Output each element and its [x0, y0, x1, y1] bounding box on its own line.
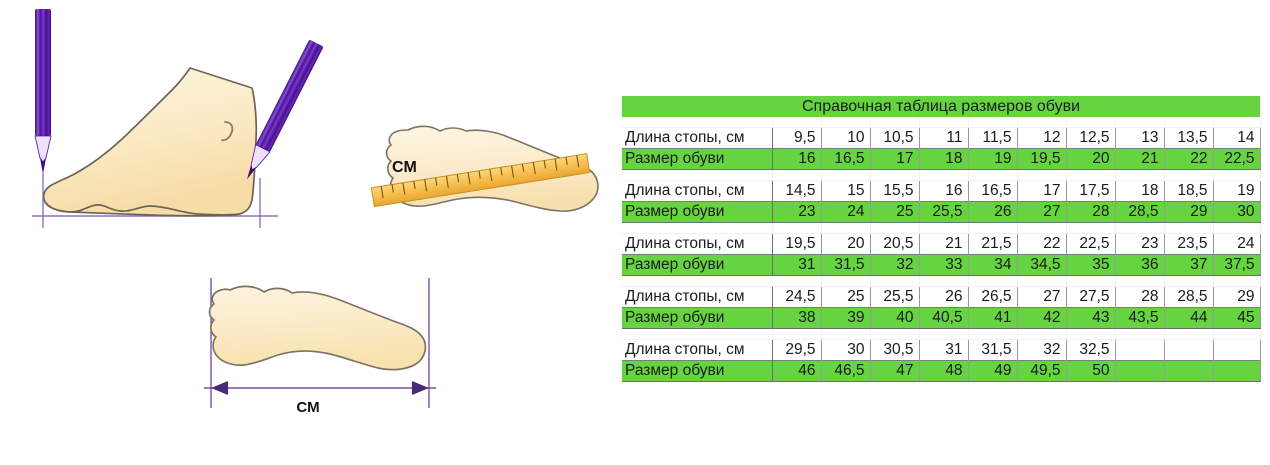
spacer-cell	[1115, 117, 1164, 127]
gap-cell	[1213, 328, 1260, 339]
gap-cell	[622, 222, 772, 233]
table-cell: 11	[919, 127, 968, 148]
gap-cell	[1115, 275, 1164, 286]
table-cell: 14,5	[772, 180, 821, 201]
table-row: Длина стопы, см29,53030,53131,53232,5	[622, 339, 1260, 360]
gap-cell	[1017, 275, 1066, 286]
table-cell: 30,5	[870, 339, 919, 360]
gap-cell	[772, 328, 821, 339]
table-cell: 11,5	[968, 127, 1017, 148]
table-cell: 38	[772, 307, 821, 328]
table-cell: 24	[821, 201, 870, 222]
table-cell	[1164, 360, 1213, 381]
table-cell: 18	[919, 148, 968, 169]
table-cell: 26,5	[968, 286, 1017, 307]
table-cell: 23	[772, 201, 821, 222]
table-cell: 37,5	[1213, 254, 1260, 275]
table-cell: 19	[1213, 180, 1260, 201]
gap-cell	[919, 222, 968, 233]
table-cell: 13	[1115, 127, 1164, 148]
table-cell: 43	[1066, 307, 1115, 328]
table-cell: 13,5	[1164, 127, 1213, 148]
table-cell: 29	[1164, 201, 1213, 222]
table-cell: 32	[870, 254, 919, 275]
table-cell: 20	[821, 233, 870, 254]
table-title: Справочная таблица размеров обуви	[622, 96, 1260, 117]
row-label: Размер обуви	[622, 201, 772, 222]
table-cell: 18,5	[1164, 180, 1213, 201]
shoe-size-reference-table: Справочная таблица размеров обувиДлина с…	[622, 96, 1261, 382]
table-cell: 12,5	[1066, 127, 1115, 148]
spacer-cell	[1066, 117, 1115, 127]
table-cell: 14	[1213, 127, 1260, 148]
gap-cell	[968, 275, 1017, 286]
table-cell: 28,5	[1115, 201, 1164, 222]
gap-cell	[1213, 169, 1260, 180]
table-cell: 24	[1213, 233, 1260, 254]
table-cell: 18	[1115, 180, 1164, 201]
gap-cell	[1164, 169, 1213, 180]
table-cell: 27	[1017, 286, 1066, 307]
table-spacer-row	[622, 117, 1260, 127]
table-cell	[1164, 339, 1213, 360]
table-row: Размер обуви4646,547484949,550	[622, 360, 1260, 381]
table-cell: 19,5	[1017, 148, 1066, 169]
table-cell: 15,5	[870, 180, 919, 201]
table-cell: 9,5	[772, 127, 821, 148]
gap-cell	[1066, 328, 1115, 339]
row-label: Размер обуви	[622, 307, 772, 328]
row-label: Длина стопы, см	[622, 233, 772, 254]
table-cell: 29	[1213, 286, 1260, 307]
table-cell: 22	[1017, 233, 1066, 254]
gap-cell	[919, 328, 968, 339]
table-cell: 21	[1115, 148, 1164, 169]
gap-cell	[821, 275, 870, 286]
table-cell: 12	[1017, 127, 1066, 148]
size-table-container: Справочная таблица размеров обувиДлина с…	[622, 96, 1259, 382]
table-cell	[1213, 339, 1260, 360]
table-cell: 47	[870, 360, 919, 381]
gap-cell	[1213, 275, 1260, 286]
gap-cell	[821, 169, 870, 180]
spacer-cell	[1213, 117, 1260, 127]
table-cell: 40	[870, 307, 919, 328]
table-cell: 24,5	[772, 286, 821, 307]
gap-cell	[870, 328, 919, 339]
table-cell: 42	[1017, 307, 1066, 328]
table-cell: 20,5	[870, 233, 919, 254]
illustration-panel: CM	[0, 0, 615, 465]
table-cell: 16	[772, 148, 821, 169]
dimension-unit-label: CM	[296, 399, 319, 416]
table-cell: 10	[821, 127, 870, 148]
spacer-cell	[772, 117, 821, 127]
gap-cell	[1066, 222, 1115, 233]
foot-ruler-figure: CM	[360, 108, 610, 233]
table-cell: 28	[1066, 201, 1115, 222]
table-cell: 50	[1066, 360, 1115, 381]
gap-cell	[1066, 275, 1115, 286]
table-cell: 36	[1115, 254, 1164, 275]
table-cell: 32,5	[1066, 339, 1115, 360]
gap-cell	[1017, 169, 1066, 180]
gap-cell	[968, 169, 1017, 180]
table-cell: 10,5	[870, 127, 919, 148]
table-cell: 31,5	[968, 339, 1017, 360]
gap-cell	[870, 169, 919, 180]
gap-cell	[772, 275, 821, 286]
gap-cell	[772, 169, 821, 180]
table-row: Размер обуви1616,517181919,520212222,5	[622, 148, 1260, 169]
table-cell: 28,5	[1164, 286, 1213, 307]
table-cell: 30	[821, 339, 870, 360]
table-row: Размер обуви23242525,526272828,52930	[622, 201, 1260, 222]
table-cell: 16,5	[821, 148, 870, 169]
ruler-unit-label: CM	[392, 159, 417, 176]
gap-cell	[870, 222, 919, 233]
spacer-cell	[870, 117, 919, 127]
table-cell: 46,5	[821, 360, 870, 381]
table-cell: 28	[1115, 286, 1164, 307]
table-cell: 17,5	[1066, 180, 1115, 201]
table-row: Длина стопы, см19,52020,52121,52222,5232…	[622, 233, 1260, 254]
table-group-gap	[622, 222, 1260, 233]
table-cell: 21,5	[968, 233, 1017, 254]
table-cell: 20	[1066, 148, 1115, 169]
row-label: Длина стопы, см	[622, 180, 772, 201]
table-cell: 19,5	[772, 233, 821, 254]
gap-cell	[1164, 328, 1213, 339]
table-group-gap	[622, 169, 1260, 180]
spacer-cell	[968, 117, 1017, 127]
table-row: Длина стопы, см9,51010,51111,51212,51313…	[622, 127, 1260, 148]
table-title-row: Справочная таблица размеров обуви	[622, 96, 1260, 117]
table-cell: 17	[1017, 180, 1066, 201]
table-cell: 22,5	[1066, 233, 1115, 254]
table-cell: 45	[1213, 307, 1260, 328]
size-table-body: Справочная таблица размеров обувиДлина с…	[622, 96, 1260, 381]
table-cell: 34,5	[1017, 254, 1066, 275]
table-cell: 39	[821, 307, 870, 328]
foot-top-view-figure: CM	[180, 268, 465, 423]
gap-cell	[1213, 222, 1260, 233]
table-cell: 33	[919, 254, 968, 275]
table-cell: 31	[919, 339, 968, 360]
gap-cell	[1066, 169, 1115, 180]
table-group-gap	[622, 275, 1260, 286]
gap-cell	[1164, 275, 1213, 286]
table-cell: 44	[1164, 307, 1213, 328]
table-cell: 22,5	[1213, 148, 1260, 169]
table-row: Длина стопы, см24,52525,52626,52727,5282…	[622, 286, 1260, 307]
row-label: Длина стопы, см	[622, 286, 772, 307]
gap-cell	[1115, 328, 1164, 339]
foot-side-view-figure	[0, 0, 330, 250]
table-cell: 30	[1213, 201, 1260, 222]
row-label: Размер обуви	[622, 360, 772, 381]
row-label: Длина стопы, см	[622, 339, 772, 360]
gap-cell	[622, 328, 772, 339]
gap-cell	[968, 328, 1017, 339]
table-cell: 26	[968, 201, 1017, 222]
gap-cell	[622, 275, 772, 286]
table-cell: 25,5	[870, 286, 919, 307]
gap-cell	[919, 275, 968, 286]
gap-cell	[1115, 169, 1164, 180]
gap-cell	[919, 169, 968, 180]
row-label: Длина стопы, см	[622, 127, 772, 148]
table-cell: 22	[1164, 148, 1213, 169]
gap-cell	[1115, 222, 1164, 233]
table-cell: 29,5	[772, 339, 821, 360]
spacer-cell	[919, 117, 968, 127]
foot-top-silhouette	[210, 286, 426, 369]
gap-cell	[968, 222, 1017, 233]
table-cell: 25	[870, 201, 919, 222]
row-label: Размер обуви	[622, 148, 772, 169]
gap-cell	[1017, 328, 1066, 339]
gap-cell	[1164, 222, 1213, 233]
table-cell	[1115, 339, 1164, 360]
table-cell: 19	[968, 148, 1017, 169]
table-cell: 40,5	[919, 307, 968, 328]
gap-cell	[772, 222, 821, 233]
table-cell: 49,5	[1017, 360, 1066, 381]
spacer-cell	[622, 117, 772, 127]
table-row: Размер обуви38394040,541424343,54445	[622, 307, 1260, 328]
spacer-cell	[1017, 117, 1066, 127]
table-row: Размер обуви3131,532333434,535363737,5	[622, 254, 1260, 275]
table-cell: 15	[821, 180, 870, 201]
gap-cell	[870, 275, 919, 286]
table-cell: 37	[1164, 254, 1213, 275]
table-cell: 23,5	[1164, 233, 1213, 254]
spacer-cell	[1164, 117, 1213, 127]
gap-cell	[1017, 222, 1066, 233]
table-cell: 41	[968, 307, 1017, 328]
gap-cell	[821, 328, 870, 339]
spacer-cell	[821, 117, 870, 127]
table-cell: 46	[772, 360, 821, 381]
table-cell	[1115, 360, 1164, 381]
table-row: Длина стопы, см14,51515,51616,51717,5181…	[622, 180, 1260, 201]
table-cell: 26	[919, 286, 968, 307]
foot-silhouette	[44, 68, 257, 216]
table-cell: 23	[1115, 233, 1164, 254]
gap-cell	[821, 222, 870, 233]
table-cell: 35	[1066, 254, 1115, 275]
table-cell: 21	[919, 233, 968, 254]
table-cell: 34	[968, 254, 1017, 275]
page-root: CM	[0, 0, 1270, 465]
table-cell: 17	[870, 148, 919, 169]
row-label: Размер обуви	[622, 254, 772, 275]
table-cell: 43,5	[1115, 307, 1164, 328]
table-group-gap	[622, 328, 1260, 339]
table-cell: 32	[1017, 339, 1066, 360]
table-cell: 16	[919, 180, 968, 201]
table-cell: 31,5	[821, 254, 870, 275]
dimension-arrow	[204, 381, 436, 395]
table-cell: 49	[968, 360, 1017, 381]
table-cell: 48	[919, 360, 968, 381]
table-cell: 27,5	[1066, 286, 1115, 307]
table-cell: 25,5	[919, 201, 968, 222]
table-cell: 25	[821, 286, 870, 307]
table-cell	[1213, 360, 1260, 381]
gap-cell	[622, 169, 772, 180]
table-cell: 31	[772, 254, 821, 275]
table-cell: 16,5	[968, 180, 1017, 201]
table-cell: 27	[1017, 201, 1066, 222]
